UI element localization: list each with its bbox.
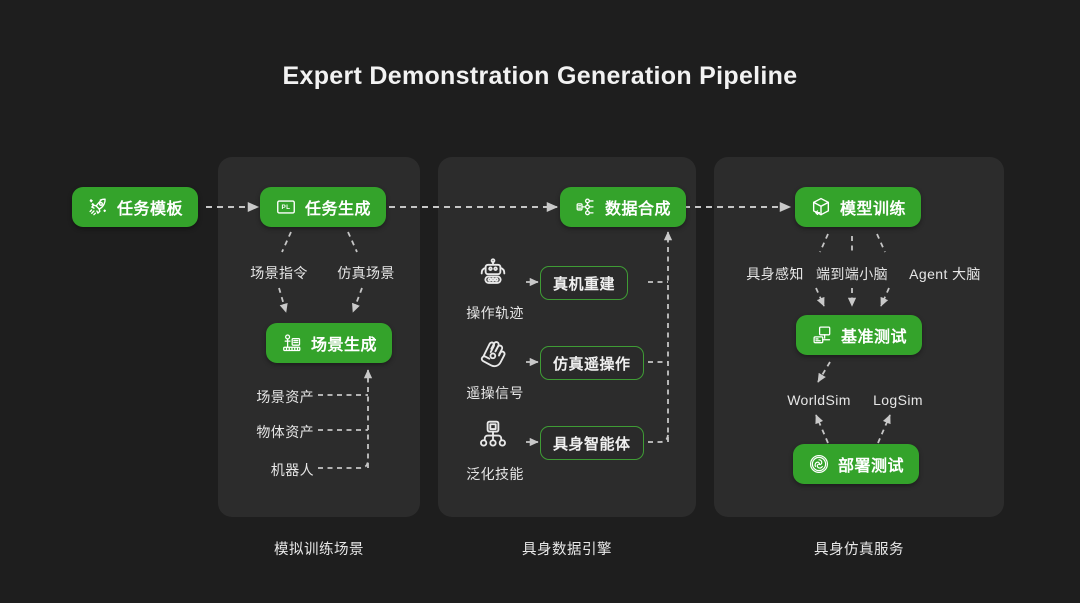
pl-frame-icon: PL <box>275 196 297 218</box>
data-synthesis-icon <box>575 196 597 218</box>
node-label: 任务生成 <box>305 195 371 219</box>
node-label: 模型训练 <box>840 195 906 219</box>
node-label: 场景生成 <box>311 331 377 355</box>
label-end-to-end-cerebellum: 端到端小脑 <box>816 264 888 284</box>
label-embodied-perception: 具身感知 <box>746 264 804 284</box>
box-label: 仿真遥操作 <box>553 353 631 374</box>
node-task-generation[interactable]: PL 任务生成 <box>260 187 386 227</box>
caption-panel-1: 模拟训练场景 <box>218 538 420 559</box>
scene-robot-icon <box>281 332 303 354</box>
label-agent-brain: Agent 大脑 <box>909 264 981 284</box>
deploy-circle-icon <box>808 453 830 475</box>
node-label: 任务模板 <box>117 195 183 219</box>
box-label: 具身智能体 <box>553 433 631 454</box>
glove-icon <box>476 338 510 372</box>
node-task-template[interactable]: 任务模板 <box>72 187 198 227</box>
label-scene-assets: 场景资产 <box>256 387 314 407</box>
cube-arrow-icon <box>810 196 832 218</box>
page-title: Expert Demonstration Generation Pipeline <box>0 62 1080 91</box>
label-worldsim: WorldSim <box>787 392 851 408</box>
box-simulated-teleoperation[interactable]: 仿真遥操作 <box>540 346 644 380</box>
box-label: 真机重建 <box>553 273 615 294</box>
label-operation-trajectory: 操作轨迹 <box>466 303 524 323</box>
node-label: 基准测试 <box>841 323 907 347</box>
node-benchmark-test[interactable]: 基准测试 <box>796 315 922 355</box>
label-robot: 机器人 <box>271 460 314 480</box>
label-scene-instruction: 场景指令 <box>250 263 308 283</box>
benchmark-screen-icon <box>811 324 833 346</box>
label-simulation-scene: 仿真场景 <box>337 263 395 283</box>
label-object-assets: 物体资产 <box>256 422 314 442</box>
svg-text:PL: PL <box>281 204 290 211</box>
label-generalization-skill: 泛化技能 <box>466 464 524 484</box>
rocket-icon <box>87 196 109 218</box>
node-model-training[interactable]: 模型训练 <box>795 187 921 227</box>
robot-icon <box>476 256 510 290</box>
node-scene-generation[interactable]: 场景生成 <box>266 323 392 363</box>
label-teleop-signal: 遥操信号 <box>466 383 524 403</box>
node-deployment-test[interactable]: 部署测试 <box>793 444 919 484</box>
box-real-machine-reconstruction[interactable]: 真机重建 <box>540 266 628 300</box>
caption-panel-2: 具身数据引擎 <box>438 538 696 559</box>
pipeline-diagram: Expert Demonstration Generation Pipeline <box>0 0 1080 603</box>
caption-panel-3: 具身仿真服务 <box>714 538 1004 559</box>
node-label: 部署测试 <box>838 452 904 476</box>
node-data-synthesis[interactable]: 数据合成 <box>560 187 686 227</box>
box-embodied-agent[interactable]: 具身智能体 <box>540 426 644 460</box>
label-logsim: LogSim <box>873 392 923 408</box>
node-label: 数据合成 <box>605 195 671 219</box>
chip-network-icon <box>476 418 510 452</box>
